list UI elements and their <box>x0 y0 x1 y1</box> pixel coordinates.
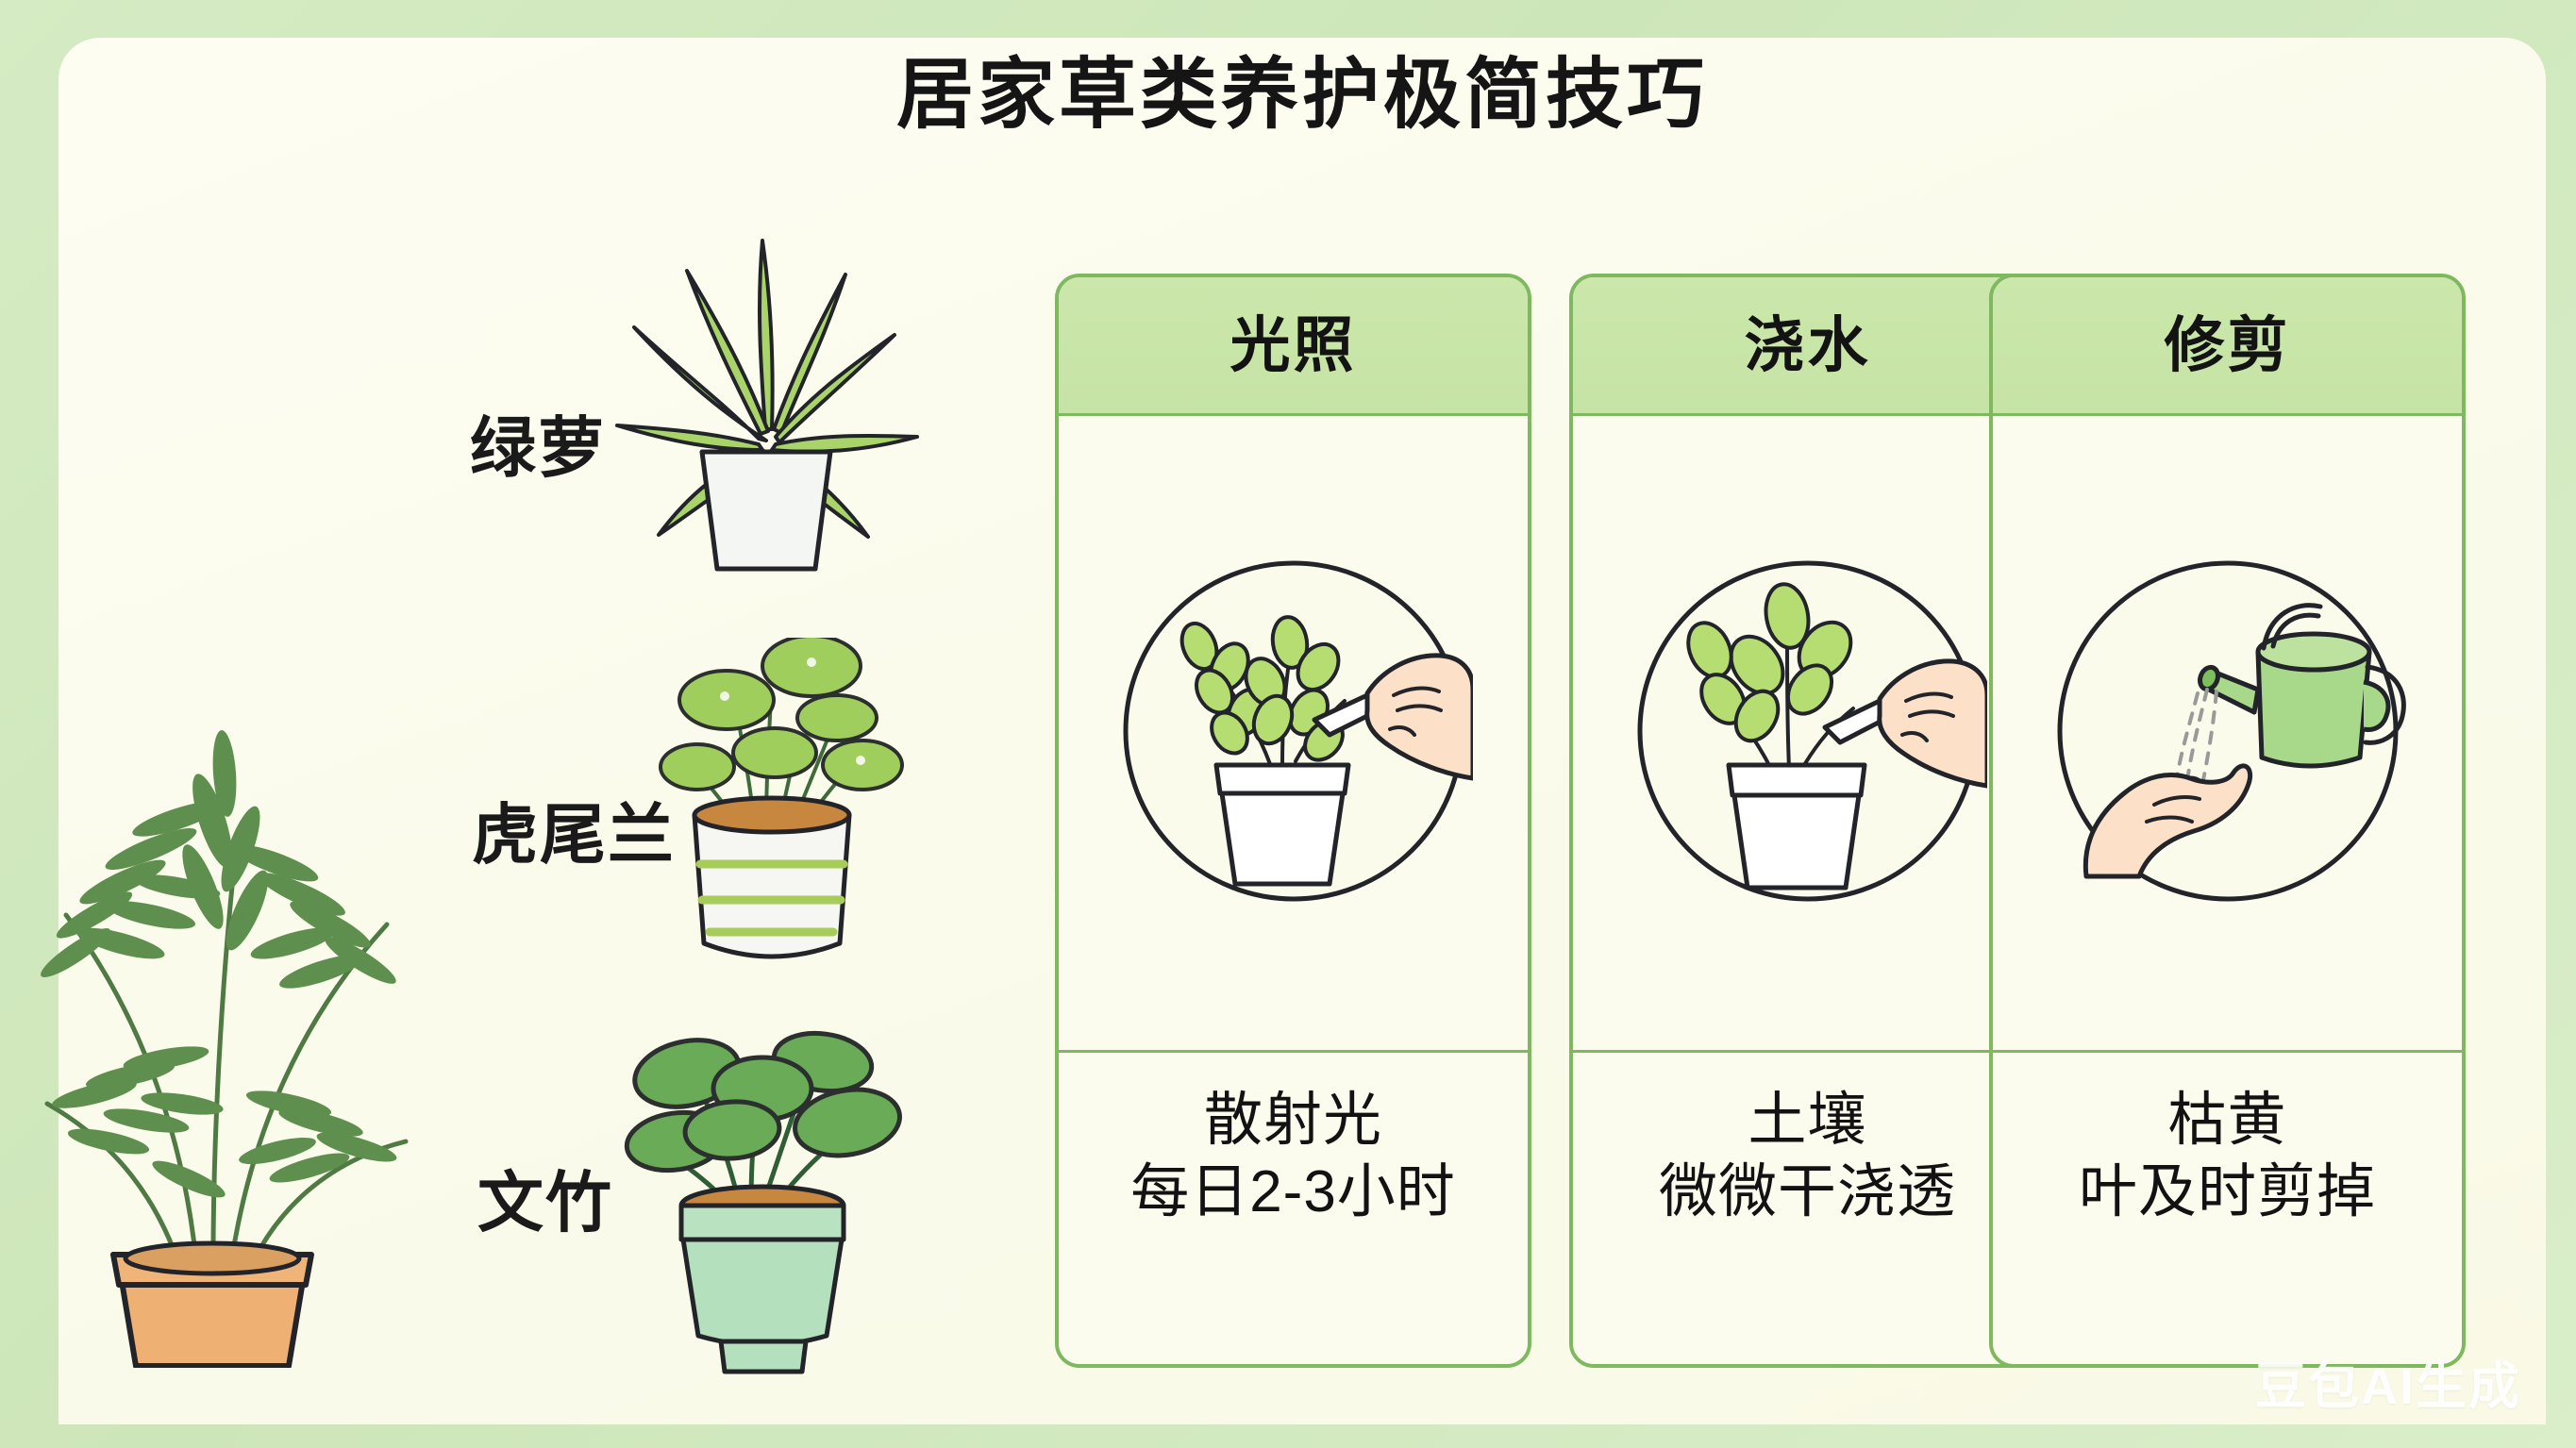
care-card-light[interactable]: 光照 <box>1055 274 1531 1368</box>
card-icon-area-watering <box>1573 416 2042 1053</box>
watering-can-hand-circle-icon <box>2049 552 2407 915</box>
card-header-light: 光照 <box>1059 277 1528 416</box>
card-line-0: 散射光 <box>1204 1085 1382 1157</box>
card-line-1: 叶及时剪掉 <box>2079 1157 2376 1228</box>
plant-tool-circle-icon <box>1629 552 1987 915</box>
card-line-1: 微微干浇透 <box>1659 1157 1956 1228</box>
plant-label-2: 文竹 <box>477 1170 613 1236</box>
card-title-watering: 浇水 <box>1745 315 1871 375</box>
card-icon-area-pruning <box>1993 416 2462 1053</box>
plant-label-0: 绿萝 <box>470 415 606 481</box>
spider-plant-illustration <box>600 203 930 580</box>
page-title: 居家草类养护极简技巧 <box>59 57 2546 134</box>
card-line-0: 土壤 <box>1748 1085 1866 1157</box>
card-title-light: 光照 <box>1230 315 1357 375</box>
round-leaf-plant-illustration <box>619 1024 930 1383</box>
parlor-palm-illustration <box>9 538 415 1368</box>
card-title-pruning: 修剪 <box>2165 315 2291 375</box>
card-line-0: 枯黄 <box>2167 1085 2286 1157</box>
plant-tool-circle-icon <box>1114 552 1473 915</box>
card-line-1: 每日2-3小时 <box>1130 1157 1456 1228</box>
card-header-watering: 浇水 <box>1573 277 2042 416</box>
watermark: 豆包AI生成 <box>2255 1361 2521 1412</box>
card-body-pruning: 枯黄 叶及时剪掉 <box>1993 1053 2462 1364</box>
care-card-pruning[interactable]: 修剪 <box>1989 274 2466 1368</box>
pilea-plant-illustration <box>645 638 957 968</box>
infographic-canvas: 居家草类养护极简技巧 <box>0 0 2576 1448</box>
card-body-watering: 土壤 微微干浇透 <box>1573 1053 2042 1364</box>
care-card-watering[interactable]: 浇水 <box>1569 274 2046 1368</box>
card-body-light: 散射光 每日2-3小时 <box>1059 1053 1528 1364</box>
card-header-pruning: 修剪 <box>1993 277 2462 416</box>
card-icon-area-light <box>1059 416 1528 1053</box>
plant-label-1: 虎尾兰 <box>472 802 676 868</box>
